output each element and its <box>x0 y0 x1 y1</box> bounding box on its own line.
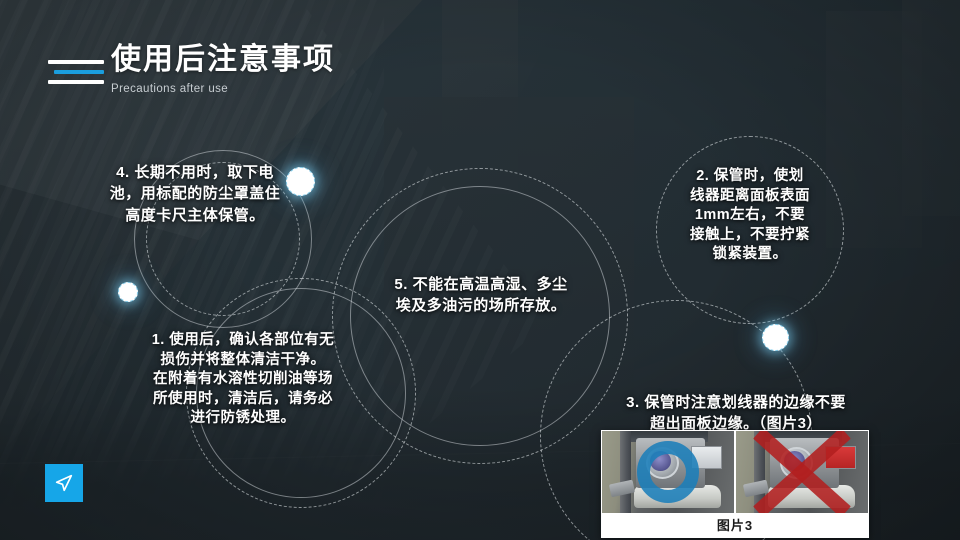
header-rule-top <box>48 60 104 64</box>
picture-row <box>601 430 869 513</box>
header-rule-bottom <box>48 80 104 84</box>
header-decoration <box>48 60 104 90</box>
page-subtitle: Precautions after use <box>111 83 335 95</box>
decor-glow-dot-right <box>762 324 789 351</box>
photo-correct-example <box>602 431 734 513</box>
note-3-text: 3. 保管时注意划线器的边缘不要 超出面板边缘。（图片3） <box>578 392 894 435</box>
page-title: 使用后注意事项 <box>111 44 335 76</box>
picture-card: 图片3 <box>601 430 869 538</box>
ok-circle-icon <box>637 441 699 503</box>
note-5-text: 5. 不能在高温高湿、多尘 埃及多油污的场所存放。 <box>363 274 599 317</box>
slide-canvas: 使用后注意事项 Precautions after use 4. 长期不用时，取… <box>0 0 960 540</box>
logo-badge[interactable] <box>45 464 83 502</box>
header-rule-accent <box>54 70 104 74</box>
picture-caption: 图片3 <box>601 513 869 538</box>
photo-incorrect-example <box>736 431 868 513</box>
paper-plane-icon <box>53 472 75 494</box>
note-1-text: 1. 使用后，确认各部位有无 损伤并将整体清洁干净。 在附着有水溶性切削油等场 … <box>128 331 358 429</box>
decor-glow-dot-left <box>118 282 138 302</box>
slide-header: 使用后注意事项 Precautions after use <box>48 44 335 95</box>
note-4-text: 4. 长期不用时，取下电 池，用标配的防尘罩盖住 高度卡尺主体保管。 <box>70 162 320 226</box>
ng-cross-icon <box>736 431 868 513</box>
note-2-text: 2. 保管时，使划 线器距离面板表面 1mm左右，不要 接触上，不要拧紧 锁紧装… <box>662 167 838 265</box>
photo-post <box>620 431 631 513</box>
